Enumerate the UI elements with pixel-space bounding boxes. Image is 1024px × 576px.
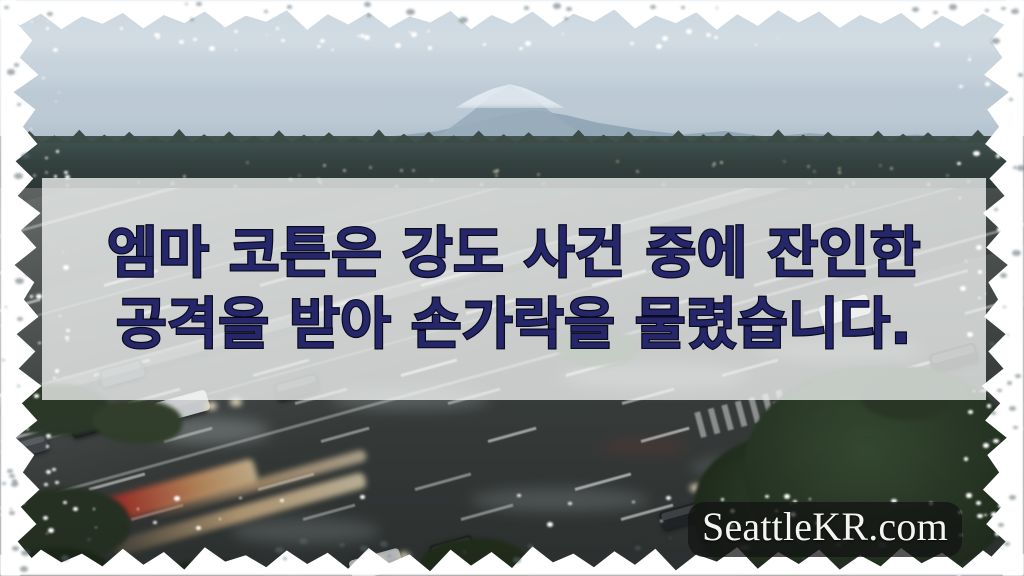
town-light	[636, 170, 639, 173]
town-light	[712, 164, 715, 167]
wet-road-reflection	[330, 388, 490, 410]
town-light	[317, 178, 320, 181]
town-light	[137, 181, 140, 184]
town-light	[838, 167, 841, 170]
news-photo-card: 엠마 코튼은 강도 사건 중에 잔인한 공격을 받아 손가락을 물렸습니다. S…	[0, 0, 1024, 576]
town-light	[289, 178, 292, 181]
town-light	[246, 161, 249, 164]
town-light	[542, 182, 545, 185]
watermark-label: SeattleKR.com	[702, 505, 948, 550]
town-light	[720, 161, 723, 164]
town-light	[967, 180, 970, 183]
cloud-band	[0, 64, 1024, 82]
town-light	[808, 181, 811, 184]
vehicle	[928, 342, 980, 374]
town-light	[838, 171, 841, 174]
town-light	[662, 183, 665, 186]
vehicle-headlight	[372, 556, 384, 564]
vehicle-headlight	[230, 398, 242, 406]
lane-dash	[488, 427, 537, 443]
town-light	[879, 164, 882, 167]
roadside-bush	[860, 374, 950, 420]
town-light	[343, 169, 346, 172]
wet-road-reflection	[560, 364, 750, 390]
town-light	[400, 169, 403, 172]
roadside-bush	[92, 400, 182, 444]
town-light	[66, 184, 69, 187]
lane-dash	[622, 388, 675, 405]
vehicle-headlight	[398, 552, 410, 560]
wet-road-reflection	[700, 320, 770, 336]
roadside-bush	[150, 560, 270, 576]
town-light	[495, 174, 498, 177]
town-light	[45, 171, 48, 174]
town-light	[9, 179, 12, 182]
vehicle	[998, 292, 1024, 321]
town-light	[616, 160, 619, 163]
town-light	[298, 174, 301, 177]
wet-road-reflection	[470, 488, 650, 512]
watermark-badge: SeattleKR.com	[688, 502, 962, 557]
town-light	[852, 182, 855, 185]
roadside-bush	[556, 328, 636, 366]
wet-road-reflection	[600, 438, 690, 456]
treeline-horizon	[0, 136, 1024, 192]
town-light	[369, 166, 372, 169]
town-light	[323, 164, 326, 167]
lane-dash	[415, 473, 472, 491]
town-light	[412, 169, 415, 172]
cloud-band	[0, 28, 1024, 54]
wet-road-reflection	[230, 518, 380, 544]
town-light	[480, 183, 483, 186]
town-light	[33, 174, 36, 177]
town-light	[183, 175, 186, 178]
town-light	[319, 181, 322, 184]
town-light	[946, 174, 949, 177]
town-light	[783, 160, 786, 163]
town-light	[430, 179, 433, 182]
wet-road-reflection	[760, 338, 920, 362]
town-light	[493, 170, 496, 173]
town-light	[171, 182, 174, 185]
town-light	[807, 165, 810, 168]
background-photo	[0, 0, 1024, 576]
town-lights	[0, 136, 1024, 192]
vehicle-headlight	[205, 402, 217, 410]
town-light	[813, 170, 816, 173]
town-light	[927, 183, 930, 186]
town-light	[537, 173, 540, 176]
town-light	[890, 167, 893, 170]
